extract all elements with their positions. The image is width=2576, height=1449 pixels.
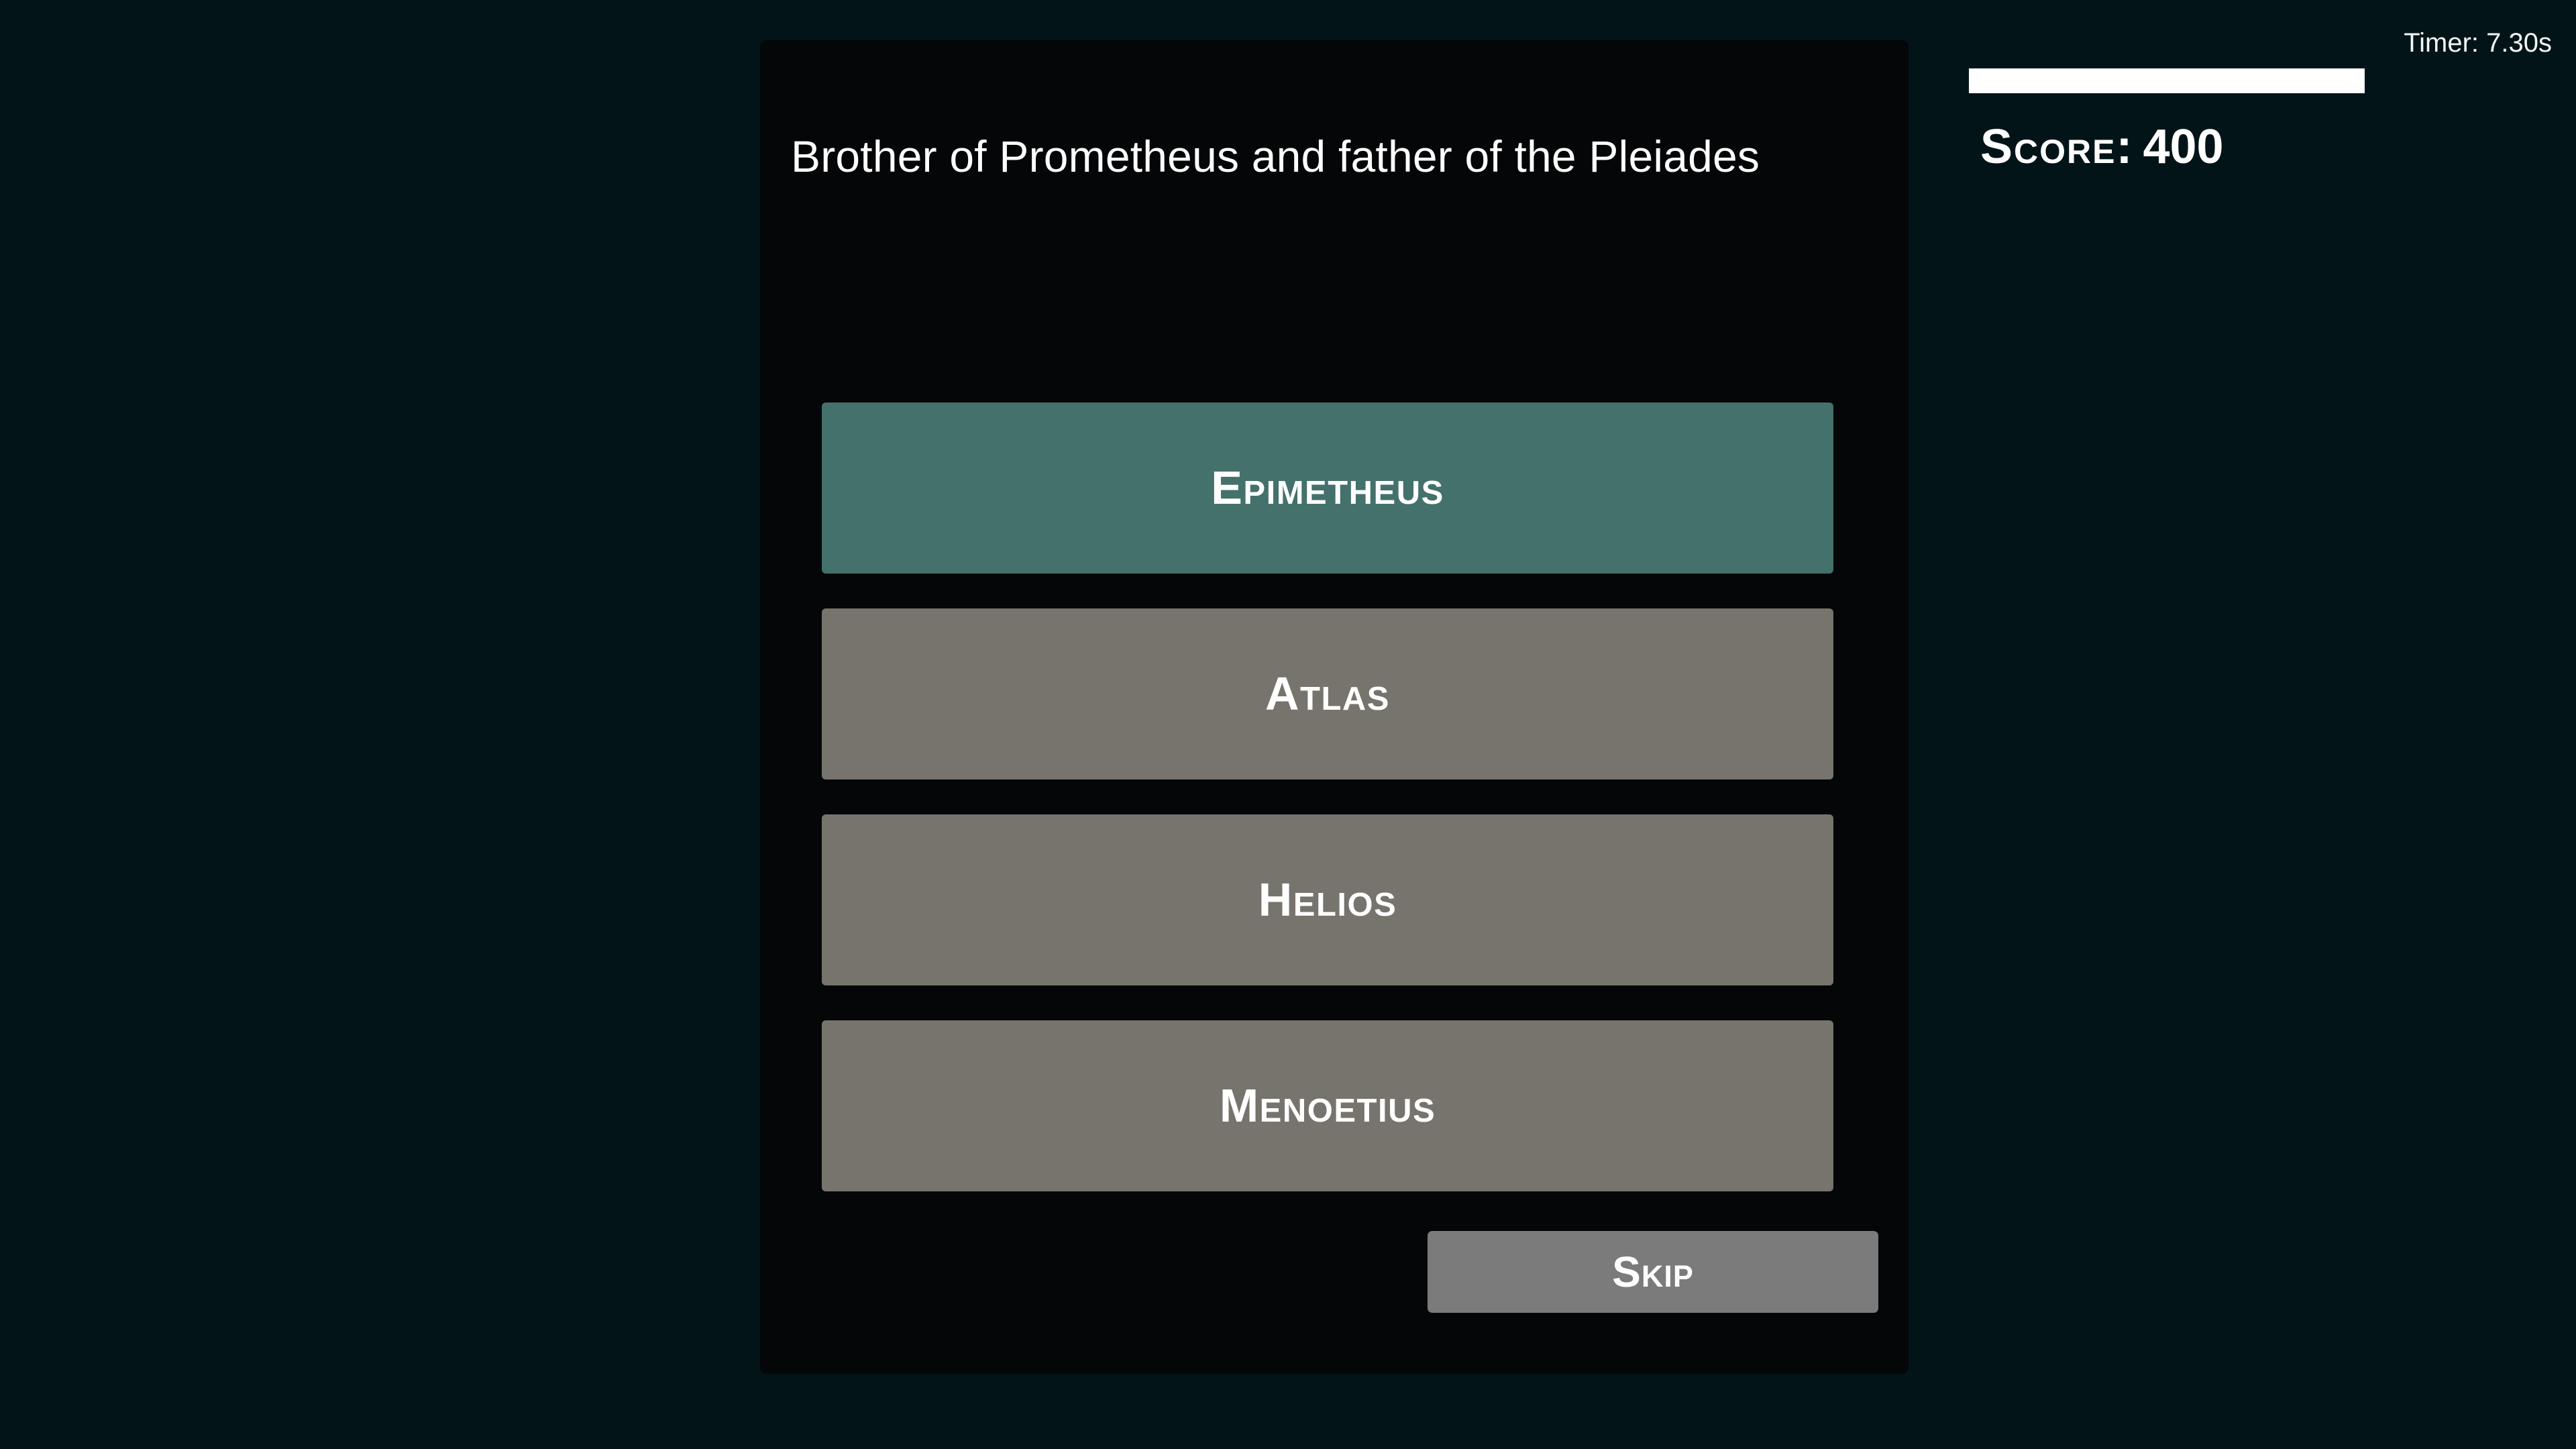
answer-option-2[interactable]: Atlas bbox=[822, 608, 1833, 780]
game-screen: Brother of Prometheus and father of the … bbox=[0, 0, 2576, 1449]
answer-option-3[interactable]: Helios bbox=[822, 814, 1833, 985]
score-display: Score:400 bbox=[1980, 119, 2224, 174]
answer-option-1[interactable]: Epimetheus bbox=[822, 402, 1833, 574]
hud-panel: Timer: 7.30s Score:400 bbox=[1966, 13, 2556, 201]
answer-options-list: Epimetheus Atlas Helios Menoetius bbox=[822, 402, 1833, 1226]
skip-button[interactable]: Skip bbox=[1428, 1231, 1878, 1313]
question-text: Brother of Prometheus and father of the … bbox=[791, 127, 1878, 186]
quiz-card: Brother of Prometheus and father of the … bbox=[760, 40, 1909, 1374]
timer-label: Timer: 7.30s bbox=[2404, 28, 2552, 58]
timer-progress-fill bbox=[1969, 68, 2365, 93]
timer-progress-bar bbox=[1969, 68, 2559, 93]
score-label: Score: bbox=[1980, 120, 2133, 174]
score-value: 400 bbox=[2143, 120, 2223, 174]
answer-option-4[interactable]: Menoetius bbox=[822, 1020, 1833, 1191]
